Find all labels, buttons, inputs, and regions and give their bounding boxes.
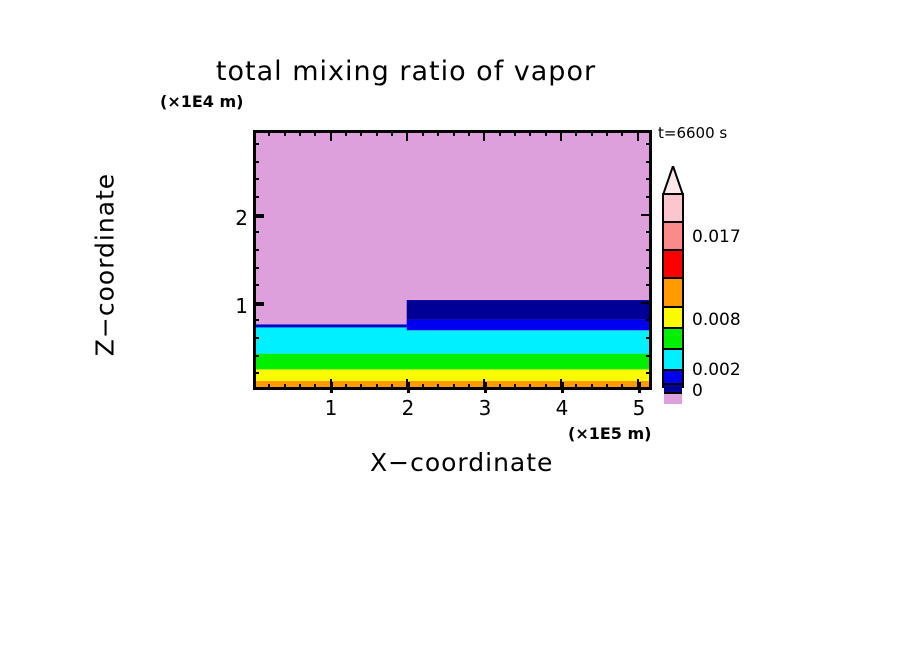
y-tick-minor-right (646, 355, 652, 357)
x-tick-minor-top (575, 130, 577, 136)
colorbar-band-8 (664, 383, 682, 393)
x-tick-minor-top (376, 130, 378, 136)
y-tick-minor (253, 319, 259, 321)
x-tick-minor (575, 384, 577, 390)
x-tick-minor (437, 384, 439, 390)
layer-navy-right (407, 300, 649, 320)
colorbar-label-3: 0 (692, 381, 703, 401)
x-tick-minor-top (330, 130, 332, 141)
layer-yellow (256, 369, 649, 381)
colorbar-band-4 (664, 306, 682, 327)
x-tick-label-3: 3 (465, 396, 505, 420)
x-tick-minor-top (299, 130, 301, 136)
x-tick-minor (591, 384, 593, 390)
x-tick-minor-top (468, 130, 470, 136)
y-tick-minor-right (641, 302, 652, 304)
x-tick-minor (330, 379, 332, 390)
colorbar (662, 166, 684, 388)
x-tick-label-5: 5 (619, 396, 659, 420)
x-tick-minor (560, 379, 562, 390)
x-tick-minor (360, 384, 362, 390)
colorbar-bands (662, 193, 684, 388)
x-tick-label-2: 2 (388, 396, 428, 420)
y-tick-minor-right (646, 161, 652, 163)
x-tick-minor-top (268, 130, 270, 136)
x-tick-minor-top (391, 130, 393, 136)
x-tick-minor (268, 384, 270, 390)
y-tick-minor-right (646, 143, 652, 145)
x-tick-minor (345, 384, 347, 390)
x-tick-minor-top (422, 130, 424, 136)
x-tick-minor (606, 384, 608, 390)
y-tick-minor (253, 372, 259, 374)
y-tick-minor-right (646, 178, 652, 180)
y-tick-minor-right (641, 214, 652, 216)
x-tick-minor-top (284, 130, 286, 136)
layer-cyan (256, 326, 649, 353)
colorbar-band-9 (664, 392, 682, 404)
y-tick-minor (253, 267, 259, 269)
x-tick-minor (314, 384, 316, 390)
x-tick-minor (299, 384, 301, 390)
y-axis-multiplier-label: (×1E4 m) (160, 92, 243, 111)
x-tick-minor (468, 384, 470, 390)
colorbar-label-2: 0.002 (692, 360, 741, 380)
x-tick-minor-top (606, 130, 608, 136)
y-tick-minor (253, 284, 259, 286)
x-tick-minor (499, 384, 501, 390)
colorbar-band-1 (664, 221, 682, 249)
y-tick-minor (253, 196, 259, 198)
y-tick-label-1: 1 (218, 294, 248, 318)
x-tick-minor (483, 379, 485, 390)
y-tick-minor-right (646, 249, 652, 251)
x-tick-minor (637, 379, 639, 390)
x-tick-minor-top (529, 130, 531, 136)
x-tick-minor-top (545, 130, 547, 136)
x-tick-minor (406, 379, 408, 390)
colorbar-band-3 (664, 277, 682, 306)
x-axis-label: X−coordinate (370, 448, 553, 477)
layer-blue-right (407, 320, 649, 331)
colorbar-band-7 (664, 369, 682, 382)
x-tick-minor-top (314, 130, 316, 136)
x-tick-minor-top (360, 130, 362, 136)
colorbar-label-1: 0.008 (692, 310, 741, 330)
x-tick-minor (514, 384, 516, 390)
figure-canvas: total mixing ratio of vapor (×1E4 m) t=6… (0, 0, 904, 654)
time-annotation: t=6600 s (658, 124, 727, 142)
x-tick-minor-top (560, 130, 562, 141)
layer-green (256, 354, 649, 370)
contour-plot-area (253, 130, 652, 390)
y-tick-minor (253, 355, 259, 357)
y-tick-minor (253, 161, 259, 163)
contour-field (256, 133, 649, 387)
y-tick-minor (253, 302, 264, 304)
x-tick-minor-top (514, 130, 516, 136)
x-tick-minor (422, 384, 424, 390)
y-tick-minor-right (646, 319, 652, 321)
y-axis-label: Z−coordinate (91, 145, 120, 385)
x-tick-minor (376, 384, 378, 390)
y-tick-minor (253, 143, 259, 145)
y-tick-minor-right (646, 337, 652, 339)
y-tick-minor-right (646, 196, 652, 198)
x-tick-minor-top (499, 130, 501, 136)
x-axis-multiplier-label: (×1E5 m) (568, 424, 651, 443)
y-tick-minor (253, 214, 264, 216)
colorbar-band-6 (664, 348, 682, 369)
x-tick-minor-top (437, 130, 439, 136)
x-tick-minor-top (406, 130, 408, 141)
chart-title: total mixing ratio of vapor (0, 56, 858, 87)
colorbar-extend-arrow (662, 166, 684, 195)
y-tick-label-2: 2 (218, 206, 248, 230)
x-tick-minor-top (453, 130, 455, 136)
y-tick-minor (253, 337, 259, 339)
y-tick-minor (253, 178, 259, 180)
colorbar-band-2 (664, 249, 682, 278)
y-tick-minor-right (646, 372, 652, 374)
y-tick-minor (253, 249, 259, 251)
x-tick-minor (621, 384, 623, 390)
y-tick-minor-right (646, 284, 652, 286)
x-tick-minor (284, 384, 286, 390)
colorbar-band-5 (664, 327, 682, 348)
x-tick-minor-top (621, 130, 623, 136)
x-tick-minor-top (637, 130, 639, 141)
colorbar-band-0 (664, 195, 682, 221)
x-tick-label-1: 1 (311, 396, 351, 420)
y-tick-minor-right (646, 267, 652, 269)
x-tick-label-4: 4 (542, 396, 582, 420)
x-tick-minor (545, 384, 547, 390)
contour-line-cyan-left (256, 324, 407, 327)
y-tick-minor-right (646, 231, 652, 233)
colorbar-label-0: 0.017 (692, 227, 741, 247)
y-tick-minor (253, 231, 259, 233)
x-tick-minor-top (483, 130, 485, 141)
x-tick-minor (391, 384, 393, 390)
x-tick-minor-top (591, 130, 593, 136)
x-tick-minor-top (345, 130, 347, 136)
x-tick-minor (453, 384, 455, 390)
x-tick-minor (529, 384, 531, 390)
